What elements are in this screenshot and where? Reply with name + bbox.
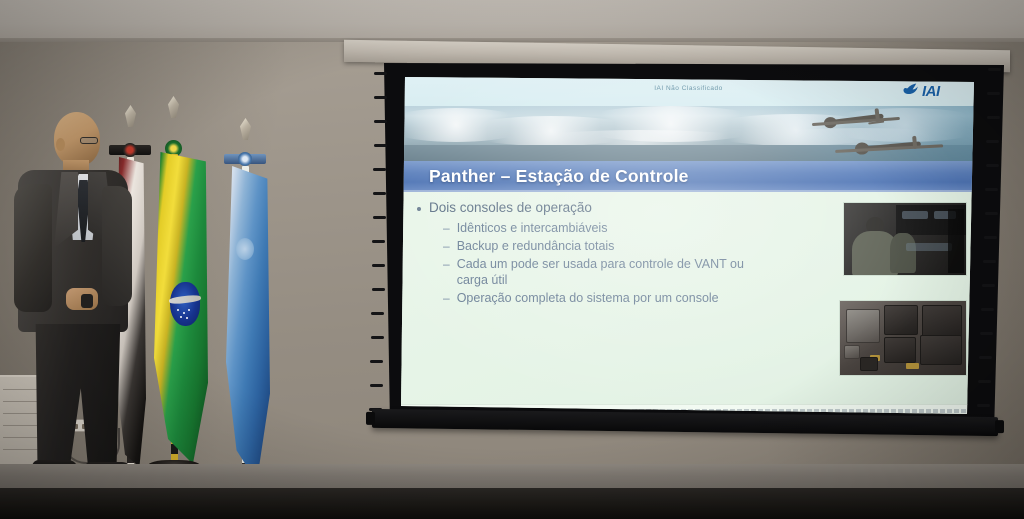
stage-front-face <box>0 488 1024 519</box>
presentation-room-scene: IAI Não Classificado IAI <box>0 0 1024 519</box>
slide-title: Panther – Estação de Controle <box>429 166 689 187</box>
bullet-dash-icon: – <box>443 291 450 305</box>
flag-rosette <box>238 152 252 166</box>
presentation-clicker <box>81 294 93 308</box>
projected-slide: IAI Não Classificado IAI <box>401 76 976 418</box>
presenter-ear <box>56 138 65 151</box>
bullet-level2: – Idênticos e intercambiáveis <box>443 220 747 236</box>
slide-title-bar: Panther – Estação de Controle <box>401 161 976 192</box>
photo-control-station-monitors <box>839 300 967 376</box>
flag-brazil-stars <box>176 308 192 320</box>
screen-tension-hooks-left <box>372 66 388 432</box>
bullet-dash-icon: – <box>443 257 450 271</box>
presenter-glasses <box>80 137 98 144</box>
bullet-level2: – Backup e redundância totais <box>443 238 747 254</box>
presenter-speaker <box>8 112 158 482</box>
screen-tension-hooks-right <box>986 66 1002 432</box>
slide-body: Dois consoles de operação – Idênticos e … <box>401 192 976 404</box>
bullet-text: Idênticos e intercambiáveis <box>457 220 608 236</box>
bullet-text: Operação completa do sistema por um cons… <box>457 290 719 306</box>
iai-logo: IAI <box>902 80 964 102</box>
bullet-text: Backup e redundância totais <box>457 238 615 254</box>
bullet-dash-icon: – <box>443 221 450 235</box>
presenter-trousers <box>30 324 124 470</box>
ceiling <box>0 0 1024 42</box>
presenter-arm-left <box>14 184 52 312</box>
presenter-arm-right <box>102 186 132 306</box>
bullet-dot-icon <box>417 207 421 211</box>
bullet-level2: – Operação completa do sistema por um co… <box>443 290 747 306</box>
slide-bullet-list: Dois consoles de operação – Idênticos e … <box>417 200 747 308</box>
bullet-dash-icon: – <box>443 239 450 253</box>
bullet-level2: – Cada um pode ser usada para controle d… <box>443 256 747 288</box>
iai-logo-text: IAI <box>922 83 940 100</box>
iai-swoosh-icon <box>902 82 920 100</box>
bullet-level1: Dois consoles de operação <box>417 200 747 217</box>
photo-operator-at-console <box>843 202 967 276</box>
bullet-text: Cada um pode ser usada para controle de … <box>457 256 747 288</box>
classification-label: IAI Não Classificado <box>401 85 976 92</box>
slide-banner-image <box>401 106 976 161</box>
flag-institution-emblem <box>236 238 254 260</box>
bullet-text: Dois consoles de operação <box>429 200 592 217</box>
